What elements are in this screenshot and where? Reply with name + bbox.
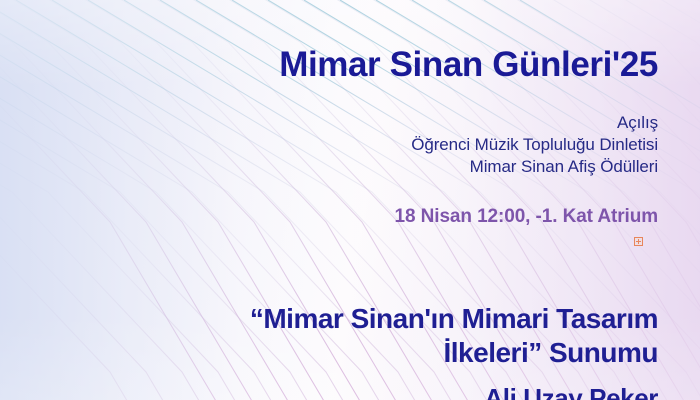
poster-title: Mimar Sinan Günleri'25 <box>279 47 658 83</box>
event-poster: Mimar Sinan Günleri'25 Açılış Öğrenci Mü… <box>0 0 700 400</box>
event-datetime-location: 18 Nisan 12:00, -1. Kat Atrium <box>395 206 658 228</box>
program-item-poster-awards: Mimar Sinan Afiş Ödülleri <box>411 156 658 178</box>
program-list: Açılış Öğrenci Müzik Topluluğu Dinletisi… <box>411 112 658 178</box>
talk-headline-line-2: İlkeleri” Sunumu <box>250 336 658 370</box>
talk-headline: “Mimar Sinan'ın Mimari Tasarım İlkeleri”… <box>250 302 658 369</box>
program-item-opening: Açılış <box>411 112 658 134</box>
speaker-name: Ali Uzay Peker <box>484 383 658 400</box>
talk-headline-line-1: “Mimar Sinan'ın Mimari Tasarım <box>250 302 658 336</box>
program-item-music-recital: Öğrenci Müzik Topluluğu Dinletisi <box>411 134 658 156</box>
poster-content: Mimar Sinan Günleri'25 Açılış Öğrenci Mü… <box>0 0 700 400</box>
crop-handle-marker-icon[interactable] <box>634 237 643 246</box>
